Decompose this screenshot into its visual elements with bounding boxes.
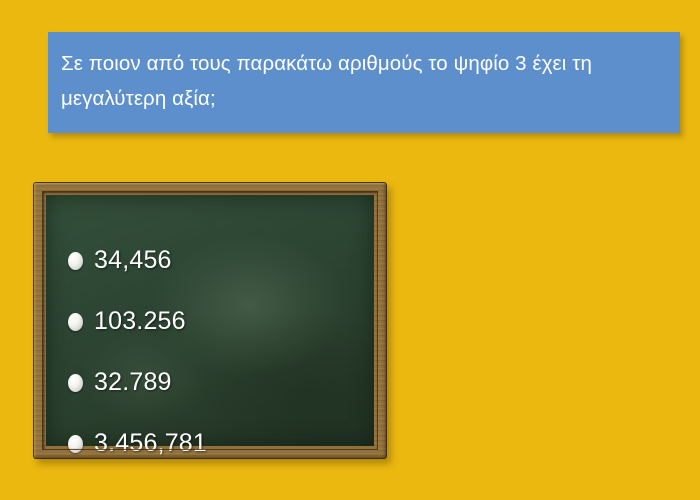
answer-option-3[interactable]: 32.789 — [68, 352, 374, 413]
answer-option-label: 32.789 — [94, 368, 172, 397]
bullet-icon — [68, 374, 83, 392]
answer-option-4[interactable]: 3.456,781 — [68, 413, 374, 459]
bullet-icon — [68, 252, 83, 270]
answer-option-label: 34,456 — [94, 246, 172, 275]
slide-canvas: Σε ποιον από τους παρακάτω αριθμούς το ψ… — [0, 0, 700, 500]
question-text: Σε ποιον από τους παρακάτω αριθμούς το ψ… — [61, 46, 664, 116]
answer-option-label: 103.256 — [94, 307, 186, 336]
bullet-icon — [68, 313, 83, 331]
question-banner: Σε ποιον από τους παρακάτω αριθμούς το ψ… — [48, 32, 680, 133]
chalkboard-surface: 34,456 103.256 32.789 3.456,781 — [46, 195, 374, 446]
bullet-icon — [68, 435, 83, 453]
answer-option-2[interactable]: 103.256 — [68, 291, 374, 352]
chalkboard: 34,456 103.256 32.789 3.456,781 — [33, 182, 387, 459]
answer-option-label: 3.456,781 — [94, 429, 207, 458]
answer-option-1[interactable]: 34,456 — [68, 230, 374, 291]
